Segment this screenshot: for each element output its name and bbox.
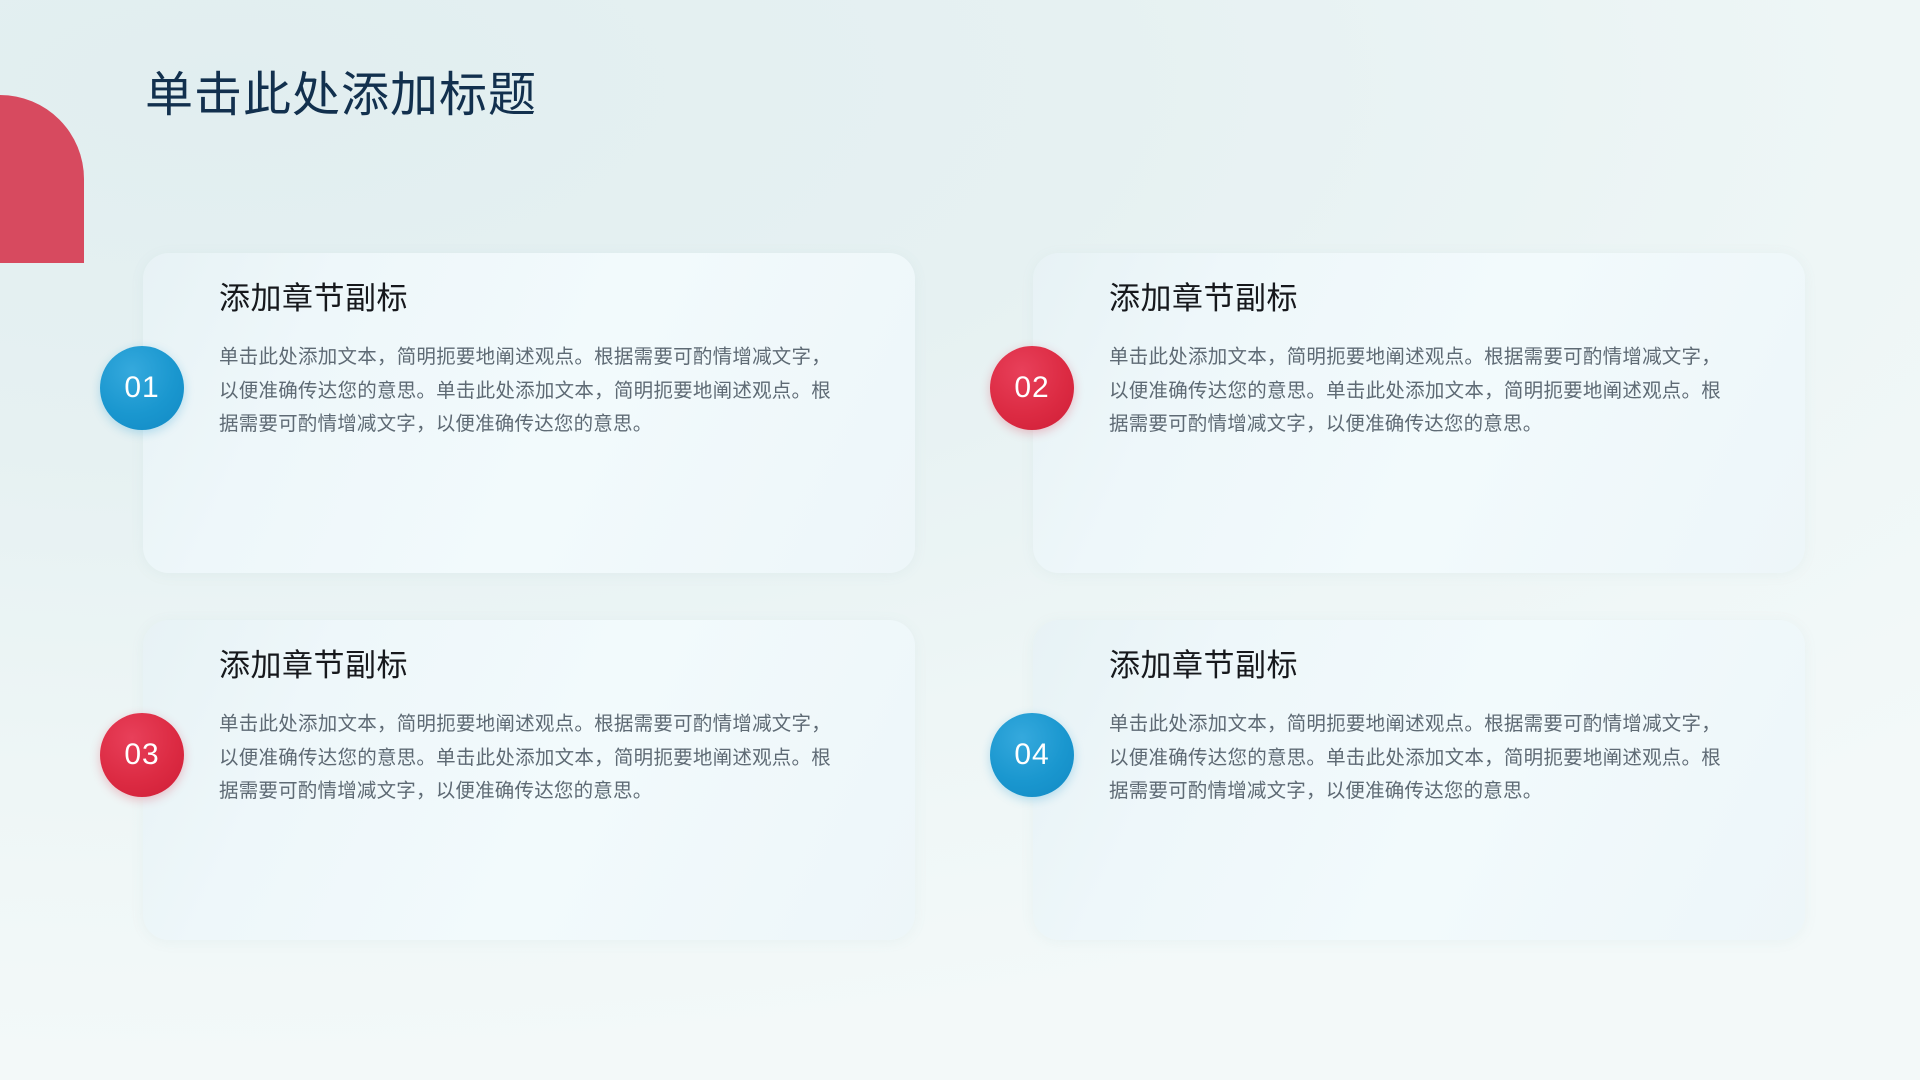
card-03-text-block: 添加章节副标 单击此处添加文本，简明扼要地阐述观点。根据需要可酌情增减文字，以便… [219,646,859,809]
card-02-heading: 添加章节副标 [1109,279,1749,319]
card-04-body: 单击此处添加文本，简明扼要地阐述观点。根据需要可酌情增减文字，以便准确传达您的意… [1109,708,1721,809]
card-04-number-label: 04 [1014,740,1049,770]
slide-canvas: 单击此处添加标题 添加章节副标 单击此处添加文本，简明扼要地阐述观点。根据需要可… [0,0,1920,1080]
card-02-body: 单击此处添加文本，简明扼要地阐述观点。根据需要可酌情增减文字，以便准确传达您的意… [1109,341,1721,442]
card-03-number-badge[interactable]: 03 [100,713,184,797]
card-03-body: 单击此处添加文本，简明扼要地阐述观点。根据需要可酌情增减文字，以便准确传达您的意… [219,708,831,809]
card-04-text-block: 添加章节副标 单击此处添加文本，简明扼要地阐述观点。根据需要可酌情增减文字，以便… [1109,646,1749,809]
card-03-heading: 添加章节副标 [219,646,859,686]
card-04-number-badge[interactable]: 04 [990,713,1074,797]
card-03-number-label: 03 [124,740,159,770]
content-card-01[interactable]: 添加章节副标 单击此处添加文本，简明扼要地阐述观点。根据需要可酌情增减文字，以便… [143,253,915,573]
card-04-heading: 添加章节副标 [1109,646,1749,686]
card-02-number-label: 02 [1014,373,1049,403]
card-01-heading: 添加章节副标 [219,279,859,319]
card-01-number-badge[interactable]: 01 [100,346,184,430]
card-02-text-block: 添加章节副标 单击此处添加文本，简明扼要地阐述观点。根据需要可酌情增减文字，以便… [1109,279,1749,442]
card-01-body: 单击此处添加文本，简明扼要地阐述观点。根据需要可酌情增减文字，以便准确传达您的意… [219,341,831,442]
content-cards-grid: 添加章节副标 单击此处添加文本，简明扼要地阐述观点。根据需要可酌情增减文字，以便… [0,0,1920,1080]
content-card-03[interactable]: 添加章节副标 单击此处添加文本，简明扼要地阐述观点。根据需要可酌情增减文字，以便… [143,620,915,940]
card-01-text-block: 添加章节副标 单击此处添加文本，简明扼要地阐述观点。根据需要可酌情增减文字，以便… [219,279,859,442]
card-02-number-badge[interactable]: 02 [990,346,1074,430]
card-01-number-label: 01 [124,373,159,403]
content-card-02[interactable]: 添加章节副标 单击此处添加文本，简明扼要地阐述观点。根据需要可酌情增减文字，以便… [1033,253,1805,573]
content-card-04[interactable]: 添加章节副标 单击此处添加文本，简明扼要地阐述观点。根据需要可酌情增减文字，以便… [1033,620,1805,940]
